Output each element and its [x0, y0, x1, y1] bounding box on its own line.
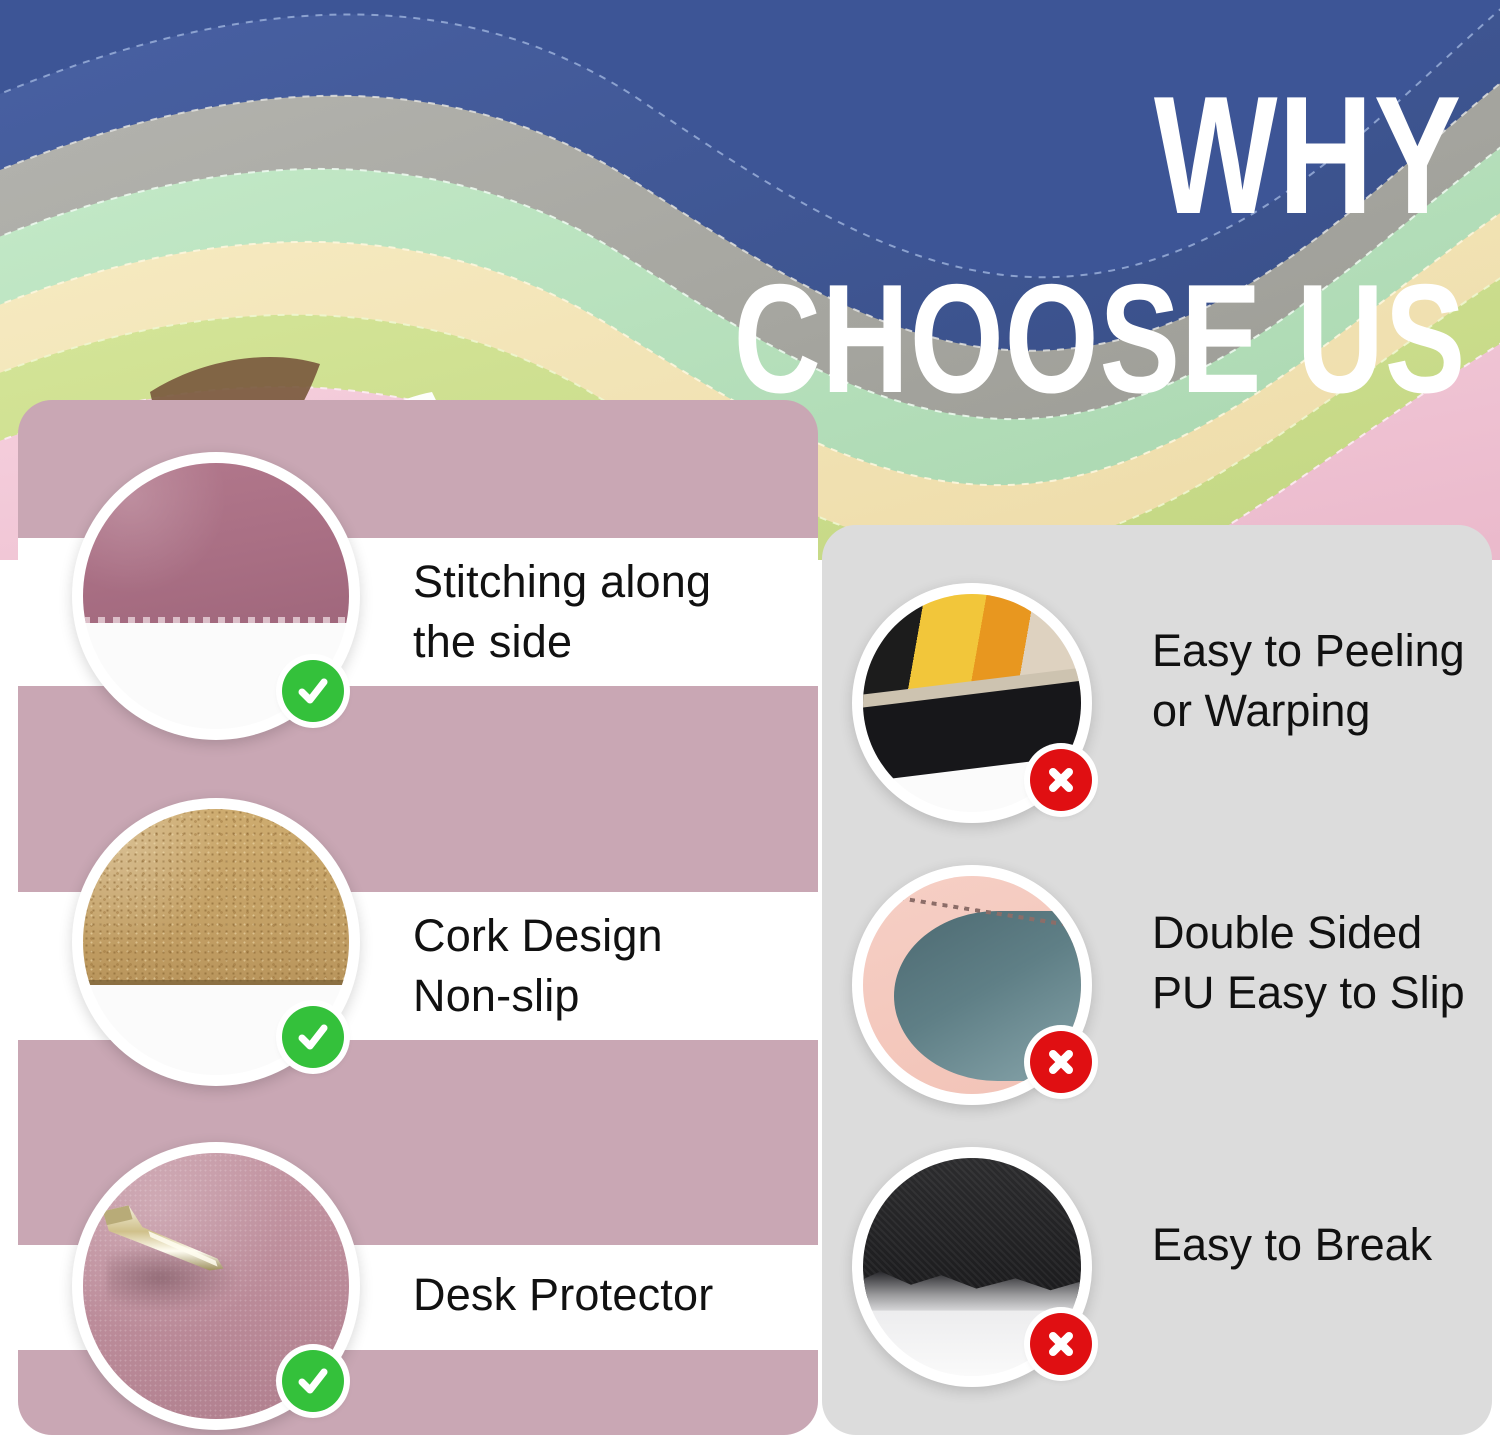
close-icon — [1030, 1031, 1092, 1093]
check-icon — [282, 660, 344, 722]
cons-item-label-1: Easy to Peeling or Warping — [1152, 621, 1465, 741]
competitor-drawbacks-panel: Easy to Peeling or Warping Double Sided … — [822, 525, 1492, 1435]
pros-item-label-3: Desk Protector — [413, 1265, 713, 1325]
high-heel-tip-icon — [99, 1201, 237, 1281]
check-icon — [282, 1006, 344, 1068]
pros-item-label-2: Cork Design Non-slip — [413, 906, 663, 1026]
cons-item-label-3: Easy to Break — [1152, 1215, 1432, 1275]
close-icon — [1030, 749, 1092, 811]
cons-item-label-2: Double Sided PU Easy to Slip — [1152, 903, 1465, 1023]
our-product-advantages-panel: Stitching along the side Cork Design Non… — [18, 400, 818, 1435]
page-title-line-1: WHY — [1154, 78, 1462, 233]
page-title-line-2: CHOOSE US — [733, 268, 1466, 411]
pros-item-label-1: Stitching along the side — [413, 552, 711, 672]
close-icon — [1030, 1313, 1092, 1375]
check-icon — [282, 1350, 344, 1412]
infographic-canvas: WHY CHOOSE US Easy to Peeling or Warping — [0, 0, 1500, 1447]
